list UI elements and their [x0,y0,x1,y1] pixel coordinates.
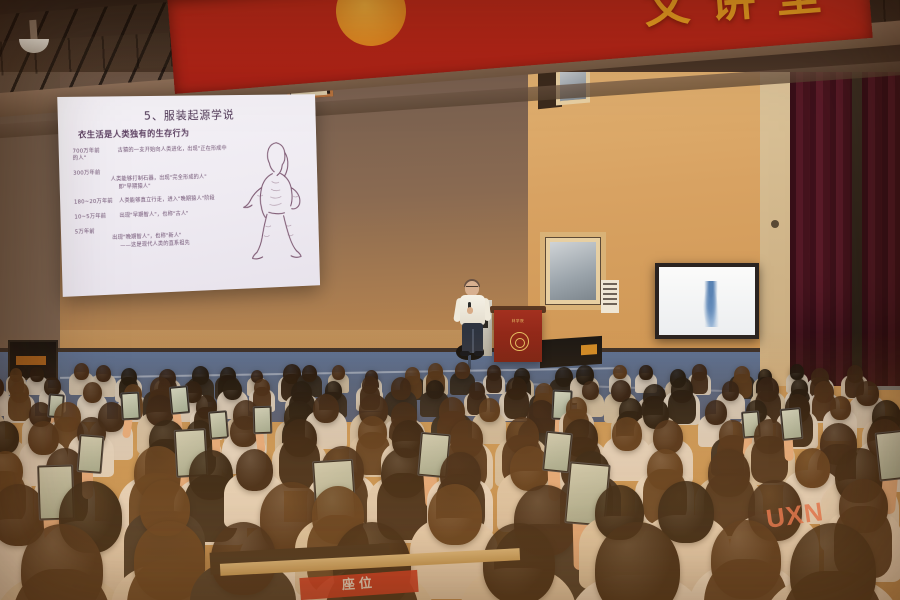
slide-row-era: 180~20万年前 [74,199,119,208]
smartphone-icon [77,434,105,474]
audience-member-head [428,484,482,545]
audience-member-hair [751,436,788,483]
slide-row-list: 700万年前古猿的一支开始向人类进化，出现"正在形成中的人"300万年前人类能够… [73,146,231,259]
slide-row: 700万年前古猿的一支开始向人类进化，出现"正在形成中的人" [73,146,229,164]
audience-member-hair [504,388,529,419]
audience-member-head [83,382,102,403]
smartphone-icon [120,391,141,420]
slide-row: 300万年前人类能够打制石器，出现"完全形成的人"即"早期猿人" [73,167,229,193]
glasses-icon [466,286,478,290]
audience-member-head [856,381,878,406]
presenter-shoe-right [474,351,484,356]
presenter-leg-split [472,329,474,353]
slide-title: 5、服装起源学说 [58,106,316,125]
podium-inscription: 林学院 [494,319,542,324]
audience-member-hair [486,373,502,393]
side-monitor-screen [659,267,755,335]
early-human-illustration [239,135,310,262]
audience-member-head [426,380,444,400]
audience-member-head [722,381,740,401]
lecture-hall-photo: 文 讲 堂 5、服装起源学说 衣生活是人类独有的生存行为 700万年前古猿的一支… [0,0,900,600]
audience-member-head [639,365,652,380]
audience-member-head [830,396,851,420]
presenter-hand [467,307,473,314]
smartphone-icon [208,410,229,439]
smartphone-icon [253,406,273,434]
smartphone-icon [169,385,191,415]
curtain-right [862,66,900,386]
audience-member-head [332,365,345,380]
audience-member-head [582,381,599,400]
audience-member-head [479,398,500,422]
side-monitor [655,263,759,339]
audience-member-head [658,481,713,543]
wall-notice-sign [601,280,619,313]
slide-row-text: 人类能够直立行走，进入"晚期猿人"阶段 [119,196,215,205]
audience-member-head [96,365,111,382]
audience-member-head [790,364,804,379]
audience-member-head [483,523,555,600]
monitor-figure-icon [703,281,719,327]
projection-screen: 5、服装起源学说 衣生活是人类独有的生存行为 700万年前古猿的一支开始向人类进… [57,94,320,297]
audience-member-head [313,394,339,423]
presenter [452,281,492,357]
smartphone-icon [875,429,900,481]
audience-member-head [705,400,727,425]
smartphone-icon [779,407,803,441]
audience-member-head [455,362,471,379]
audience-member-head [391,377,411,400]
audience-member-hair [668,390,695,424]
audience-member-head [613,365,626,380]
audience-member-hair [691,372,708,394]
audience-member-head [74,363,89,380]
wall-fixture [771,220,779,228]
slide-content: 5、服装起源学说 衣生活是人类独有的生存行为 700万年前古猿的一支开始向人类进… [57,94,320,297]
slide-row-era: 10~5万年前 [74,213,119,222]
audience-member-hair [8,392,31,421]
podium: 林学院 [494,310,542,362]
slide-row: 5万年前出现"晚期智人"，也称"新人"——这是现代人类的直系祖先 [75,224,231,251]
lower-window [546,238,600,304]
slide-row: 10~5万年前出现"早期智人"，也称"古人" [74,210,230,222]
audience-member-head [30,367,43,382]
audience-member-head [795,448,831,488]
audience-member-head [236,449,274,491]
audience-member-head [302,365,317,382]
university-seal-icon [510,332,529,351]
slide-row: 180~20万年前人类能够直立行走，进入"晚期猿人"阶段 [74,196,230,208]
audience-member-head [612,417,642,451]
curtain-left [790,66,852,386]
audience-member-head [223,379,242,400]
slide-subtitle: 衣生活是人类独有的生存行为 [78,127,190,141]
presenter-shoe-left [460,351,470,356]
slide-row-text: 出现"早期智人"，也称"古人" [119,211,188,219]
audience-crowd [0,360,900,600]
